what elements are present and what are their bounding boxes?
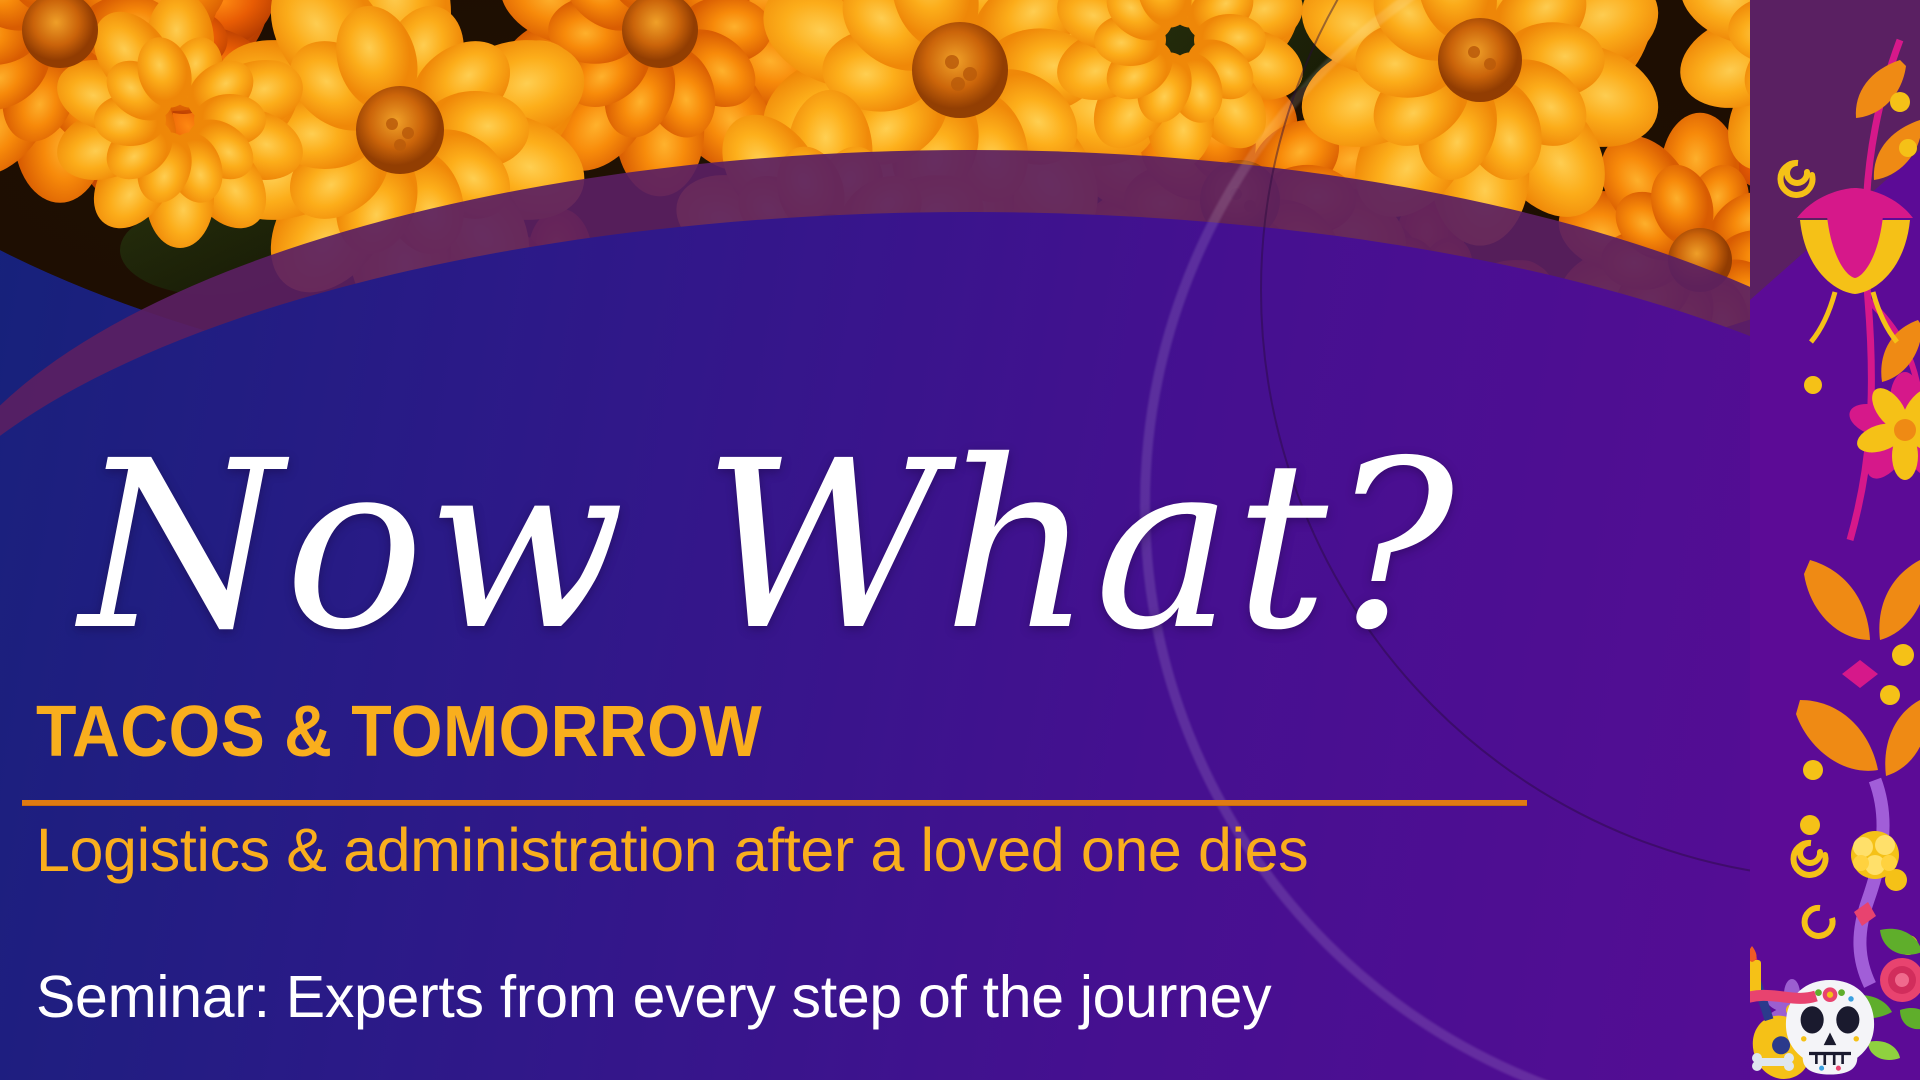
poster-script-title: Now What? [28,430,1508,662]
poster-text-content: Now What? TACOS & TOMORROW Logistics & a… [0,0,1920,1080]
poster-subtitle: Logistics & administration after a loved… [36,816,1308,884]
poster-tagline: Seminar: Experts from every step of the … [36,965,1271,1030]
poster-kicker: TACOS & TOMORROW [36,696,762,768]
event-poster: Now What? TACOS & TOMORROW Logistics & a… [0,0,1920,1080]
gold-divider-rule [22,800,1527,805]
